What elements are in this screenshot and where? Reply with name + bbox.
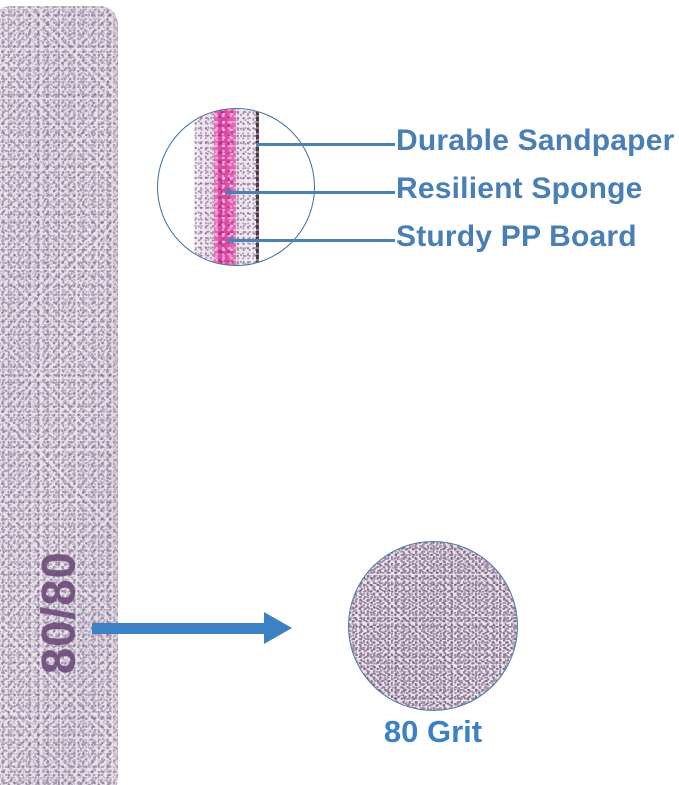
cross-section-magnifier-circle bbox=[157, 108, 315, 266]
leader-line-sandpaper bbox=[256, 143, 395, 146]
grit-detail-circle bbox=[348, 541, 518, 711]
leader-arrow-pp-board-icon bbox=[226, 236, 233, 244]
leader-line-pp-board bbox=[232, 239, 395, 242]
callout-label-resilient-sponge: Resilient Sponge bbox=[396, 172, 643, 206]
layer-pp-board bbox=[256, 108, 259, 266]
callout-label-durable-sandpaper: Durable Sandpaper bbox=[396, 124, 674, 158]
leader-arrow-sponge-icon bbox=[224, 188, 231, 196]
product-infographic: 80/80 Durable Sandpaper Resilient Sponge… bbox=[0, 0, 679, 785]
leader-line-sponge bbox=[230, 191, 395, 194]
grit-arrow-head-icon bbox=[264, 612, 292, 644]
grit-arrow-shaft bbox=[92, 623, 267, 634]
grit-detail-caption: 80 Grit bbox=[348, 714, 518, 750]
layer-sandpaper-right bbox=[236, 108, 256, 266]
layer-sandpaper-left bbox=[194, 108, 214, 266]
nail-file-grit-print: 80/80 bbox=[8, 548, 108, 678]
callout-label-sturdy-pp-board: Sturdy PP Board bbox=[396, 220, 637, 254]
